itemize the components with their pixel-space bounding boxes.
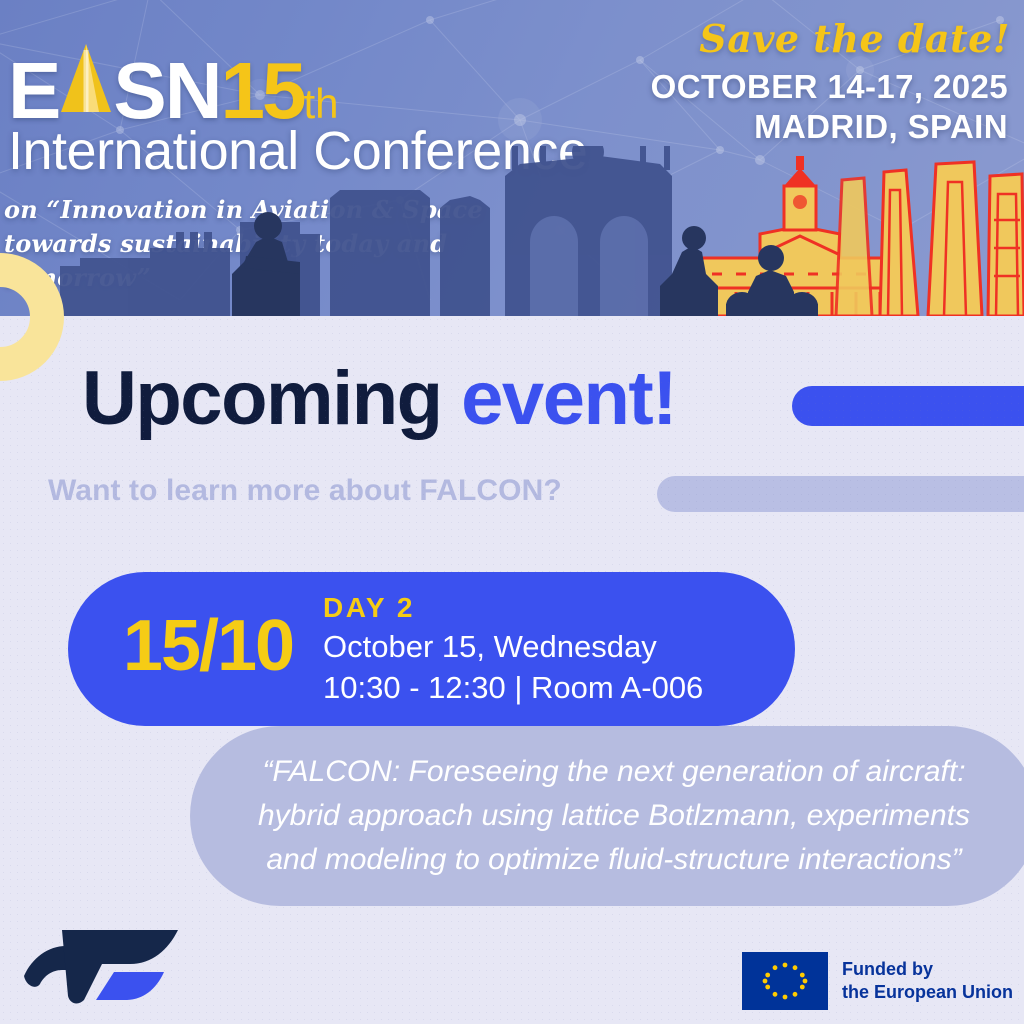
- eu-funding-line-2: the European Union: [842, 981, 1013, 1004]
- session-title-text: “FALCON: Foreseeing the next generation …: [244, 750, 984, 882]
- easn-logo: E SN 15 th: [8, 40, 339, 118]
- poster-canvas: E SN 15 th International Conference on “…: [0, 0, 1024, 1024]
- logo-ordinal-number: 15: [221, 52, 304, 130]
- page-title-part-2: event!: [461, 356, 676, 441]
- conference-location: MADRID, SPAIN: [754, 108, 1008, 146]
- eu-flag-icon: [742, 952, 828, 1010]
- eu-funding-line-1: Funded by: [842, 958, 1013, 981]
- falcon-bird-logo: [18, 920, 188, 1006]
- blue-pill-decoration: [792, 386, 1024, 426]
- conference-banner: E SN 15 th International Conference on “…: [0, 0, 1024, 316]
- page-title-part-1: Upcoming: [82, 356, 461, 441]
- aircraft-delta-icon: [59, 40, 113, 118]
- page-subtitle: Want to learn more about FALCON?: [48, 474, 562, 508]
- session-title-card: “FALCON: Foreseeing the next generation …: [190, 726, 1024, 906]
- lavender-pill-decoration: [657, 476, 1024, 512]
- event-time-and-room: 10:30 - 12:30 | Room A-006: [323, 667, 703, 708]
- event-date-card: 15/10 DAY 2 October 15, Wednesday 10:30 …: [68, 572, 795, 726]
- event-date-long: October 15, Wednesday: [323, 626, 703, 667]
- event-date-short: 15/10: [88, 598, 328, 694]
- logo-text-e: E: [8, 52, 59, 130]
- madrid-skyline-illustration: [0, 146, 1024, 316]
- page-title: Upcoming event!: [82, 356, 676, 442]
- event-day-label: DAY 2: [323, 590, 703, 626]
- eu-funding-text: Funded by the European Union: [842, 958, 1013, 1004]
- eu-funding-badge: Funded by the European Union: [742, 952, 1013, 1010]
- save-the-date-label: Save the date!: [699, 16, 1010, 61]
- event-details: DAY 2 October 15, Wednesday 10:30 - 12:3…: [323, 590, 703, 708]
- logo-text-sn: SN: [113, 52, 220, 130]
- conference-dates: OCTOBER 14-17, 2025: [651, 68, 1008, 106]
